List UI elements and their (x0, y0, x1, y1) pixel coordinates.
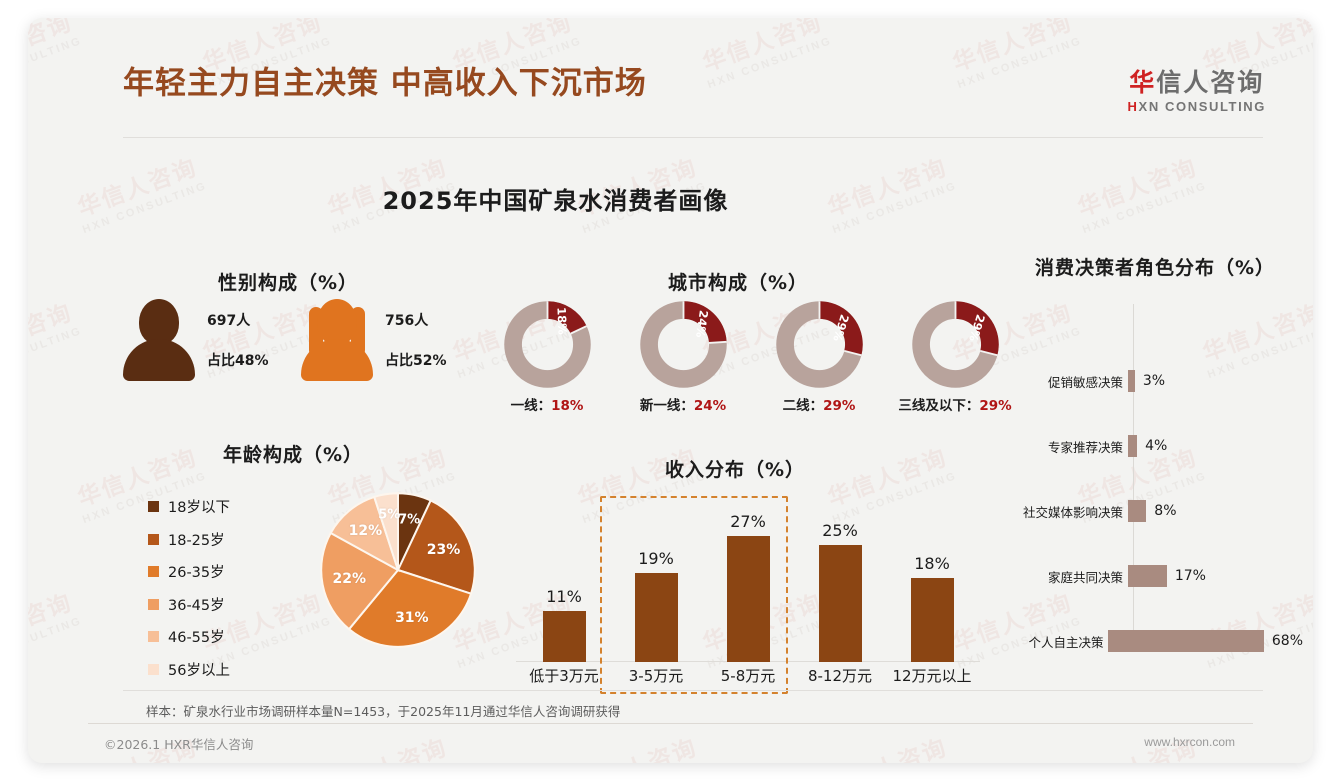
decision-bar[interactable] (1128, 565, 1167, 587)
chart-subtitle: 2025年中国矿泉水消费者画像 (28, 181, 1313, 216)
donut-ring: 18% (501, 298, 594, 391)
legend-label: 18岁以下 (168, 496, 230, 517)
legend-label: 46-55岁 (168, 626, 225, 647)
age-legend-item: 18岁以下 (148, 496, 230, 517)
donut-ring: 29% (909, 298, 1002, 391)
donut-caption: 一线：18% (483, 394, 611, 414)
gender-item: 756人占比52% (301, 299, 447, 381)
income-category-label: 8-12万元 (790, 665, 890, 686)
gender-item: 697人占比48% (123, 299, 269, 381)
company-logo: 华信人咨询 HXN CONSULTING (1128, 70, 1266, 114)
pie-slice-label: 7% (398, 513, 420, 528)
decision-bar[interactable] (1128, 435, 1137, 457)
decision-bar-item: 个人自主决策68% (1013, 628, 1303, 654)
city-section-title: 城市构成（%） (668, 268, 808, 295)
watermark-chinese: 华信人咨询 (28, 582, 79, 659)
donut-category-name: 三线及以下： (898, 398, 979, 414)
logo-en-rest: XN CONSULTING (1139, 99, 1266, 114)
income-bar-item: 18% (886, 554, 978, 662)
gender-share: 占比52% (385, 350, 447, 370)
watermark-chinese: 华信人咨询 (319, 727, 454, 763)
donut-caption: 三线及以下：29% (891, 394, 1019, 414)
decision-category-label: 专家推荐决策 (1013, 437, 1128, 456)
gender-count: 697人 (207, 310, 269, 330)
age-pie: 7%23%31%22%12%5% (318, 490, 478, 650)
donut-category-value: 24% (694, 398, 726, 414)
watermark-english: HXN CONSULTING (28, 615, 84, 671)
watermark-chinese: 华信人咨询 (569, 727, 704, 763)
decision-bar-value: 17% (1175, 568, 1206, 584)
age-legend-item: 36-45岁 (148, 594, 230, 615)
header-divider (123, 137, 1263, 138)
age-legend-item: 56岁以上 (148, 659, 230, 680)
city-donut-item: 18%一线：18% (483, 298, 611, 414)
slide-card: 华信人咨询HXN CONSULTING华信人咨询HXN CONSULTING华信… (28, 18, 1313, 763)
city-donut-item: 29%二线：29% (755, 298, 883, 414)
income-bar-value: 25% (794, 521, 886, 540)
pie-slice-label: 31% (395, 610, 429, 626)
slide-header: 年轻主力自主决策 中高收入下沉市场 华信人咨询 HXN CONSULTING (28, 18, 1313, 123)
watermark-english: HXN CONSULTING (331, 760, 459, 763)
income-bar-value: 18% (886, 554, 978, 573)
pie-slice-label: 23% (427, 542, 461, 558)
donut-category-name: 一线： (511, 398, 552, 414)
age-section-title: 年龄构成（%） (223, 440, 363, 467)
income-bar[interactable] (543, 611, 586, 662)
decision-bar[interactable] (1108, 630, 1263, 652)
donut-category-name: 新一线： (640, 398, 694, 414)
decision-bar-value: 3% (1143, 373, 1165, 389)
decision-bar-item: 社交媒体影响决策8% (1013, 498, 1303, 524)
decision-bar-value: 8% (1154, 503, 1176, 519)
legend-label: 26-35岁 (168, 561, 225, 582)
legend-swatch (148, 599, 159, 610)
decision-plot-area: 促销敏感决策3%专家推荐决策4%社交媒体影响决策8%家庭共同决策17%个人自主决… (1013, 300, 1303, 630)
donut-category-value: 29% (823, 398, 855, 414)
donut-category-value: 29% (979, 398, 1011, 414)
city-donut-item: 24%新一线：24% (619, 298, 747, 414)
age-legend: 18岁以下18-25岁26-35岁36-45岁46-55岁56岁以上 (148, 496, 230, 691)
city-donut-row: 18%一线：18%24%新一线：24%29%二线：29%29%三线及以下：29% (483, 298, 1019, 414)
sample-note: 样本：矿泉水行业市场调研样本量N=1453，于2025年11月通过华信人咨询调研… (146, 701, 620, 720)
watermark-tile: 华信人咨询HXN CONSULTING (28, 582, 84, 671)
legend-label: 36-45岁 (168, 594, 225, 615)
decision-bar-item: 促销敏感决策3% (1013, 368, 1303, 394)
female-silhouette-icon (301, 299, 373, 381)
donut-caption: 二线：29% (755, 394, 883, 414)
legend-swatch (148, 501, 159, 512)
legend-swatch (148, 631, 159, 642)
income-bar-value: 11% (518, 587, 610, 606)
logo-chinese-text: 华信人咨询 (1128, 70, 1266, 96)
logo-en-accent-char: H (1128, 99, 1139, 114)
note-divider (123, 690, 1263, 691)
footer-divider (88, 723, 1253, 724)
donut-slice-label: 18% (554, 307, 569, 335)
pie-slice-label: 12% (349, 523, 383, 539)
decision-bar-value: 4% (1145, 438, 1167, 454)
legend-swatch (148, 566, 159, 577)
gender-stats: 697人占比48% (207, 310, 269, 370)
income-category-label: 低于3万元 (514, 665, 614, 686)
watermark-english: HXN CONSULTING (831, 760, 959, 763)
decision-bar-item: 专家推荐决策4% (1013, 433, 1303, 459)
pie-slice-label: 5% (378, 507, 400, 522)
watermark-english: HXN CONSULTING (581, 760, 709, 763)
gender-stats: 756人占比52% (385, 310, 447, 370)
legend-label: 18-25岁 (168, 529, 225, 550)
legend-label: 56岁以上 (168, 659, 230, 680)
donut-category-value: 18% (551, 398, 583, 414)
gender-section-title: 性别构成（%） (218, 268, 358, 295)
income-bar-item: 25% (794, 521, 886, 662)
watermark-english: HXN CONSULTING (28, 325, 84, 381)
decision-section-title: 消费决策者角色分布（%） (1035, 253, 1275, 280)
city-donut-item: 29%三线及以下：29% (891, 298, 1019, 414)
watermark-tile: 华信人咨询HXN CONSULTING (569, 727, 709, 763)
income-bar-item: 11% (518, 587, 610, 662)
page-title: 年轻主力自主决策 中高收入下沉市场 (123, 58, 647, 103)
person-body (123, 339, 195, 381)
income-category-label: 12万元以上 (882, 665, 982, 686)
copyright-text: ©2026.1 HXR华信人咨询 (104, 734, 253, 753)
watermark-tile: 华信人咨询HXN CONSULTING (819, 727, 959, 763)
age-legend-item: 18-25岁 (148, 529, 230, 550)
decision-bar-value: 68% (1272, 633, 1303, 649)
watermark-english: HXN CONSULTING (1081, 760, 1209, 763)
legend-swatch (148, 534, 159, 545)
decision-bar-item: 家庭共同决策17% (1013, 563, 1303, 589)
income-highlight-box (600, 496, 788, 694)
decision-bar[interactable] (1128, 370, 1135, 392)
donut-caption: 新一线：24% (619, 394, 747, 414)
donut-ring: 29% (773, 298, 866, 391)
logo-english-text: HXN CONSULTING (1128, 99, 1266, 114)
income-plot-area: 11%低于3万元19%3-5万元27%5-8万元25%8-12万元18%12万元… (508, 492, 988, 662)
decision-category-label: 社交媒体影响决策 (1013, 502, 1128, 521)
income-bar[interactable] (819, 545, 862, 662)
website-link[interactable]: www.hxrcon.com (1144, 735, 1235, 749)
decision-category-label: 个人自主决策 (1013, 632, 1108, 651)
gender-share: 占比48% (207, 350, 269, 370)
age-legend-item: 26-35岁 (148, 561, 230, 582)
watermark-english: HXN CONSULTING (81, 760, 209, 763)
decision-category-label: 家庭共同决策 (1013, 567, 1128, 586)
pie-slice-label: 22% (333, 571, 367, 587)
watermark-tile: 华信人咨询HXN CONSULTING (28, 292, 84, 381)
gender-count: 756人 (385, 310, 447, 330)
decision-category-label: 促销敏感决策 (1013, 372, 1128, 391)
income-section-title: 收入分布（%） (665, 455, 805, 482)
logo-cn-accent-char: 华 (1129, 68, 1156, 97)
legend-swatch (148, 664, 159, 675)
income-bar[interactable] (911, 578, 954, 662)
logo-cn-rest: 信人咨询 (1156, 68, 1264, 97)
donut-category-name: 二线： (783, 398, 824, 414)
decision-bar[interactable] (1128, 500, 1146, 522)
watermark-tile: 华信人咨询HXN CONSULTING (319, 727, 459, 763)
male-silhouette-icon (123, 299, 195, 381)
age-legend-item: 46-55岁 (148, 626, 230, 647)
watermark-chinese: 华信人咨询 (819, 727, 954, 763)
watermark-chinese: 华信人咨询 (28, 292, 79, 369)
donut-ring: 24% (637, 298, 730, 391)
